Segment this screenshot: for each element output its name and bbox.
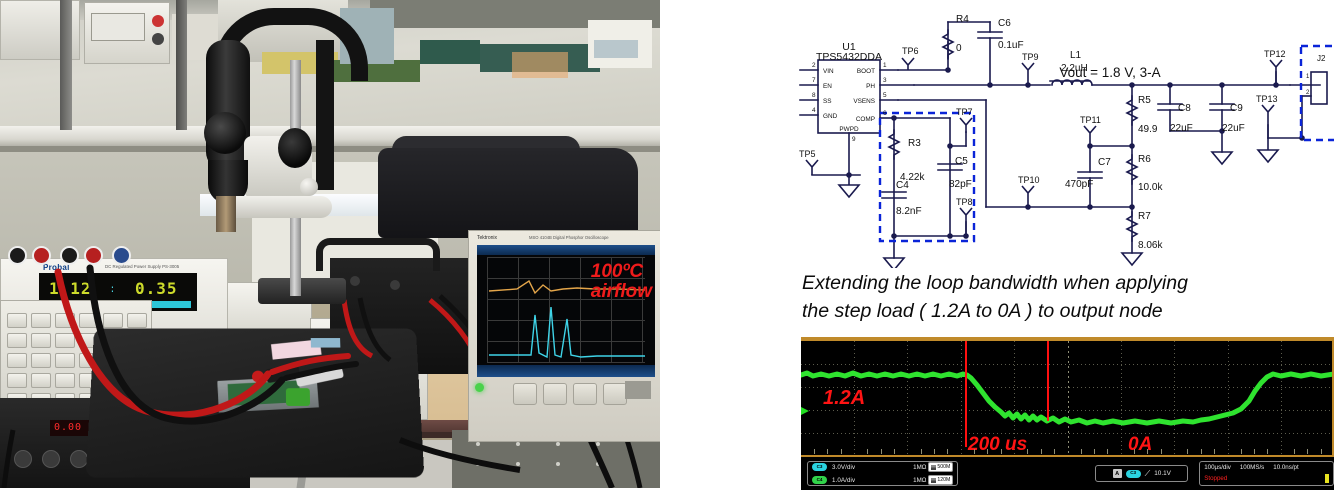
l1-ref: L1 — [1070, 50, 1082, 61]
channel-impedance-c3: 1MΩ — [913, 464, 926, 471]
lab-bench-photo: Probal DC Regulated Power Supply PS-3005… — [0, 0, 660, 488]
airflow-annotation: 100ºC airflow — [591, 262, 652, 302]
j2-ref: J2 — [1317, 54, 1326, 63]
pin-name-ss: SS — [823, 98, 832, 105]
oscilloscope-capture: 1.2A 200 us 0A — [801, 337, 1334, 490]
probe-nozzle — [216, 196, 236, 232]
ic-part-label: TPS5432DDA — [816, 51, 882, 63]
pin-num-6: 6 — [883, 110, 887, 117]
scope-screen-botbar — [477, 365, 655, 377]
c7-value: 470pF — [1065, 179, 1093, 190]
current-waveform — [801, 343, 1334, 455]
scope-graticule: 1.2A 200 us 0A — [801, 341, 1334, 455]
r6-ref: R6 — [1138, 154, 1151, 165]
r7-value: 8.06k — [1138, 240, 1163, 251]
pin-num-8: 8 — [812, 92, 816, 99]
lens-element-rear — [278, 128, 312, 168]
pin-name-gnd: GND — [823, 113, 838, 120]
airflow-annotation-line2: airflow — [591, 282, 652, 302]
tp7-label: TP7 — [956, 107, 973, 117]
pin-num-5: 5 — [883, 92, 887, 99]
c5-ref: C5 — [955, 156, 968, 167]
scope-model-label: MSO 4104B Digital Phosphor Oscilloscope — [529, 235, 609, 240]
channel-scale-c3: 3.0V/div — [832, 464, 855, 471]
airflow-annotation-line1: 100ºC — [591, 262, 652, 282]
right-column: U1 TPS5432DDA VIN EN SS GND BOOT PH VSEN… — [660, 0, 1334, 488]
run-state-label: Stopped — [1204, 475, 1227, 482]
timebase-value: 100µs/div — [1204, 464, 1231, 471]
c4-value: 8.2nF — [896, 206, 922, 217]
slide-root: Probal DC Regulated Power Supply PS-3005… — [0, 0, 1334, 488]
acquisition-settings-box[interactable]: 100µs/div 100MS/s 10.0ns/pt Stopped — [1199, 461, 1334, 486]
tp10-label: TP10 — [1018, 175, 1040, 185]
tp5-label: TP5 — [799, 149, 816, 159]
tp11-label: TP11 — [1080, 115, 1101, 125]
sample-rate-value: 100MS/s — [1240, 464, 1264, 471]
pin-num-2: 2 — [812, 62, 816, 69]
r5-ref: R5 — [1138, 95, 1151, 106]
pin-name-boot: BOOT — [857, 68, 875, 75]
channel-badge-c4[interactable]: C4 — [812, 476, 827, 484]
scope-cursor-1 — [965, 341, 967, 447]
r5-value: 49.9 — [1138, 124, 1158, 135]
stand-clamp-lower — [222, 196, 332, 218]
channel-bandwidth-c4: 120M — [937, 477, 950, 483]
r6-value: 10.0k — [1138, 182, 1163, 193]
channel-bandwidth-box-c4[interactable]: 120M — [928, 475, 953, 485]
pin-num-1: 1 — [883, 62, 887, 69]
channel-impedance-c4: 1MΩ — [913, 477, 926, 484]
c4-ref: C4 — [896, 180, 909, 191]
c9-value: 22uF — [1222, 123, 1245, 134]
scope-button-4[interactable] — [603, 383, 627, 405]
tp6-label: TP6 — [902, 46, 919, 56]
label-initial-current: 1.2A — [823, 387, 865, 410]
channel-bandwidth-c3: 500M — [937, 464, 950, 470]
scope-usb-port[interactable] — [625, 381, 651, 399]
trigger-settings-box[interactable]: A C3 ⟋ 10.1V — [1095, 465, 1188, 482]
channel-scale-c4: 1.0A/div — [832, 477, 855, 484]
j2-pin2: 2 — [1306, 90, 1310, 96]
pin-num-4: 4 — [812, 107, 816, 114]
bandwidth-filter-icon — [931, 478, 936, 483]
resolution-value: 10.0ns/pt — [1273, 464, 1298, 471]
acquisition-progress-bar — [1325, 474, 1329, 483]
channel-bandwidth-box-c3[interactable]: 500M — [928, 462, 953, 472]
caption-line-1: Extending the loop bandwidth when applyi… — [802, 270, 1322, 298]
bandwidth-filter-icon — [931, 465, 936, 470]
c5-value: 82pF — [949, 179, 972, 190]
vout-label: Vout = 1.8 V, 3-A — [1059, 65, 1160, 80]
j2-pin1: 1 — [1306, 74, 1310, 80]
pin-name-pwpd: PWPD — [839, 126, 859, 133]
pin-num-7: 7 — [812, 77, 816, 84]
r3-ref: R3 — [908, 138, 921, 149]
pin-name-ph: PH — [866, 83, 875, 90]
channel-row-c4[interactable]: C4 1.0A/div 1MΩ 120M — [812, 475, 953, 485]
pin-num-3: 3 — [883, 77, 887, 84]
r7-ref: R7 — [1138, 211, 1151, 222]
slide-caption: Extending the loop bandwidth when applyi… — [802, 270, 1322, 325]
c8-ref: C8 — [1178, 103, 1191, 114]
tp9-label: TP9 — [1022, 52, 1039, 62]
c7-ref: C7 — [1098, 157, 1111, 168]
c8-value: 22uF — [1170, 123, 1193, 134]
channel-row-c3[interactable]: C3 3.0V/div 1MΩ 500M — [812, 462, 953, 472]
pin-num-9: 9 — [852, 136, 856, 143]
pin-name-vin: VIN — [823, 68, 834, 75]
c6-ref: C6 — [998, 18, 1011, 29]
channel-settings-box[interactable]: C3 3.0V/div 1MΩ 500M C4 1.0A/div — [807, 461, 958, 486]
scope-button-2[interactable] — [543, 383, 567, 405]
trigger-set-badge[interactable]: A — [1113, 469, 1122, 478]
buck-converter-schematic: U1 TPS5432DDA VIN EN SS GND BOOT PH VSEN… — [790, 0, 1334, 268]
caption-line-2: the step load ( 1.2A to 0A ) to output n… — [802, 298, 1322, 326]
scope-cursor-2 — [1047, 341, 1049, 421]
microscope-stand-base — [258, 278, 346, 304]
scope-status-bar: C3 3.0V/div 1MΩ 500M C4 1.0A/div — [801, 457, 1334, 490]
pin-name-en: EN — [823, 83, 832, 90]
scope-brand-label: Tektronix — [477, 235, 497, 241]
tp12-label: TP12 — [1264, 49, 1286, 59]
pin-name-comp: COMP — [856, 116, 875, 123]
scope-tick-row — [801, 449, 1334, 455]
r4-value: 0 — [956, 43, 962, 54]
lens-element-front — [204, 112, 246, 154]
tp8-label: TP8 — [956, 197, 973, 207]
scope-button-1[interactable] — [513, 383, 537, 405]
scope-button-3[interactable] — [573, 383, 597, 405]
c6-value: 0.1uF — [998, 40, 1024, 51]
r4-ref: R4 — [956, 14, 969, 25]
trigger-rising-edge-icon: ⟋ — [1145, 469, 1151, 479]
pin-name-vsens: VSENS — [853, 98, 875, 105]
tp13-label: TP13 — [1256, 94, 1278, 104]
channel-badge-c3[interactable]: C3 — [812, 463, 827, 471]
trigger-level-value: 10.1V — [1154, 470, 1171, 477]
c9-ref: C9 — [1230, 103, 1243, 114]
scope-power-led — [475, 383, 484, 392]
stand-adjust-knob[interactable] — [300, 178, 318, 196]
trigger-source-badge[interactable]: C3 — [1126, 470, 1141, 478]
